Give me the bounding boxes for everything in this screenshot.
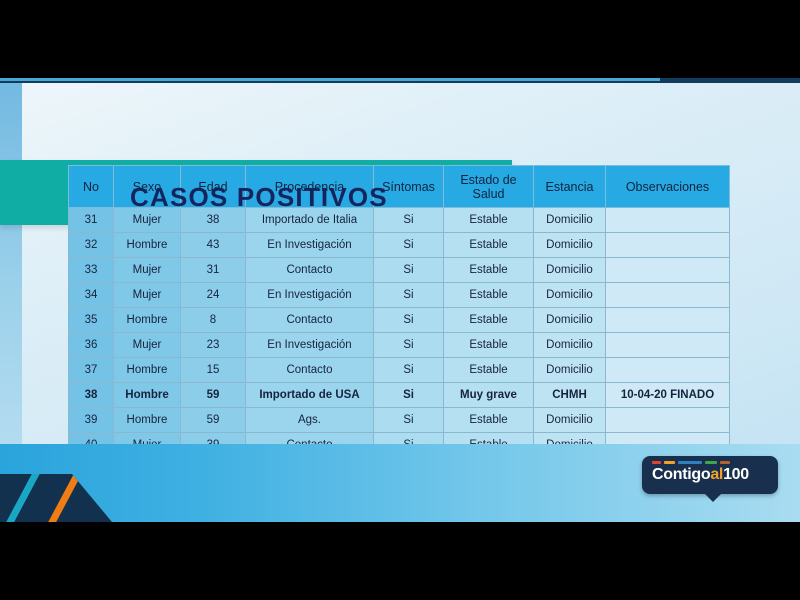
badge-dash-3 <box>705 461 717 464</box>
cell-observaciones <box>606 308 730 333</box>
table-row[interactable]: 39Hombre59Ags.SiEstableDomicilio <box>69 408 730 433</box>
slide-top-rule-accent <box>0 78 660 81</box>
col-header-estado-salud[interactable]: Estado de Salud <box>444 166 534 208</box>
cell-observaciones <box>606 408 730 433</box>
table-row[interactable]: 34Mujer24En InvestigaciónSiEstableDomici… <box>69 283 730 308</box>
cell-sexo: Hombre <box>114 358 181 383</box>
badge-color-dashes <box>642 456 778 464</box>
col-header-estancia[interactable]: Estancia <box>534 166 606 208</box>
cell-estancia: Domicilio <box>534 333 606 358</box>
badge-100: 100 <box>723 466 749 483</box>
cell-sexo: Hombre <box>114 383 181 408</box>
screenshot-canvas: CASOS POSITIVOS No Sexo Edad Procedencia… <box>0 0 800 600</box>
cell-no: 39 <box>69 408 114 433</box>
cell-edad: 59 <box>181 408 246 433</box>
cell-estancia: Domicilio <box>534 258 606 283</box>
cell-sintomas: Si <box>374 233 444 258</box>
cell-estancia: Domicilio <box>534 208 606 233</box>
cell-sintomas: Si <box>374 258 444 283</box>
badge-dash-2 <box>678 461 702 464</box>
table-row[interactable]: 37Hombre15ContactoSiEstableDomicilio <box>69 358 730 383</box>
cell-observaciones <box>606 283 730 308</box>
table-row[interactable]: 32Hombre43En InvestigaciónSiEstableDomic… <box>69 233 730 258</box>
cell-sintomas: Si <box>374 408 444 433</box>
cell-sintomas: Si <box>374 333 444 358</box>
page-title: CASOS POSITIVOS <box>130 182 388 213</box>
cell-procedencia: En Investigación <box>246 233 374 258</box>
cell-edad: 43 <box>181 233 246 258</box>
cell-sintomas: Si <box>374 358 444 383</box>
cell-observaciones <box>606 233 730 258</box>
cell-estado-salud: Estable <box>444 308 534 333</box>
cell-sexo: Mujer <box>114 283 181 308</box>
cell-no: 34 <box>69 283 114 308</box>
table-row[interactable]: 36Mujer23En InvestigaciónSiEstableDomici… <box>69 333 730 358</box>
badge-dash-0 <box>652 461 661 464</box>
cell-no: 35 <box>69 308 114 333</box>
cell-estancia: CHMH <box>534 383 606 408</box>
cell-procedencia: Contacto <box>246 258 374 283</box>
cell-estado-salud: Estable <box>444 358 534 383</box>
cell-sexo: Hombre <box>114 408 181 433</box>
cell-procedencia: Contacto <box>246 308 374 333</box>
table-row[interactable]: 38Hombre59Importado de USASiMuy graveCHM… <box>69 383 730 408</box>
cell-procedencia: Importado de USA <box>246 383 374 408</box>
cell-observaciones <box>606 258 730 283</box>
cell-estancia: Domicilio <box>534 283 606 308</box>
cell-sexo: Mujer <box>114 258 181 283</box>
cell-no: 31 <box>69 208 114 233</box>
cell-no: 36 <box>69 333 114 358</box>
cell-procedencia: Ags. <box>246 408 374 433</box>
badge-al: al <box>710 466 723 483</box>
cell-estancia: Domicilio <box>534 308 606 333</box>
cell-no: 38 <box>69 383 114 408</box>
cell-no: 37 <box>69 358 114 383</box>
cell-estado-salud: Estable <box>444 408 534 433</box>
contigo-al-100-badge: Contigoal100 <box>642 456 778 494</box>
cell-edad: 8 <box>181 308 246 333</box>
cell-observaciones <box>606 333 730 358</box>
badge-dash-1 <box>664 461 675 464</box>
cell-edad: 31 <box>181 258 246 283</box>
cell-estado-salud: Muy grave <box>444 383 534 408</box>
badge-wordmark: Contigoal100 <box>642 464 778 484</box>
cell-sexo: Hombre <box>114 233 181 258</box>
badge-contigo: Contigo <box>652 466 710 483</box>
stripe-teal <box>4 474 43 522</box>
presentation-slide: CASOS POSITIVOS No Sexo Edad Procedencia… <box>0 78 800 522</box>
cell-estado-salud: Estable <box>444 208 534 233</box>
cell-sexo: Hombre <box>114 308 181 333</box>
cell-procedencia: En Investigación <box>246 333 374 358</box>
cell-edad: 15 <box>181 358 246 383</box>
cell-estancia: Domicilio <box>534 233 606 258</box>
badge-dash-4 <box>720 461 730 464</box>
cell-no: 32 <box>69 233 114 258</box>
cell-sintomas: Si <box>374 383 444 408</box>
col-header-no[interactable]: No <box>69 166 114 208</box>
table-row[interactable]: 35Hombre8ContactoSiEstableDomicilio <box>69 308 730 333</box>
cell-edad: 59 <box>181 383 246 408</box>
table-row[interactable]: 33Mujer31ContactoSiEstableDomicilio <box>69 258 730 283</box>
cell-no: 33 <box>69 258 114 283</box>
cell-estancia: Domicilio <box>534 358 606 383</box>
cell-estado-salud: Estable <box>444 233 534 258</box>
cell-edad: 23 <box>181 333 246 358</box>
cell-estado-salud: Estable <box>444 333 534 358</box>
cell-sexo: Mujer <box>114 333 181 358</box>
cell-sintomas: Si <box>374 283 444 308</box>
cell-estancia: Domicilio <box>534 408 606 433</box>
cell-edad: 24 <box>181 283 246 308</box>
cell-observaciones: 10-04-20 FINADO <box>606 383 730 408</box>
cell-estado-salud: Estable <box>444 283 534 308</box>
cell-observaciones <box>606 358 730 383</box>
cell-estado-salud: Estable <box>444 258 534 283</box>
cell-procedencia: En Investigación <box>246 283 374 308</box>
cell-observaciones <box>606 208 730 233</box>
col-header-observaciones[interactable]: Observaciones <box>606 166 730 208</box>
cell-procedencia: Contacto <box>246 358 374 383</box>
cases-table-body: 31Mujer38Importado de ItaliaSiEstableDom… <box>69 208 730 458</box>
cell-sintomas: Si <box>374 308 444 333</box>
